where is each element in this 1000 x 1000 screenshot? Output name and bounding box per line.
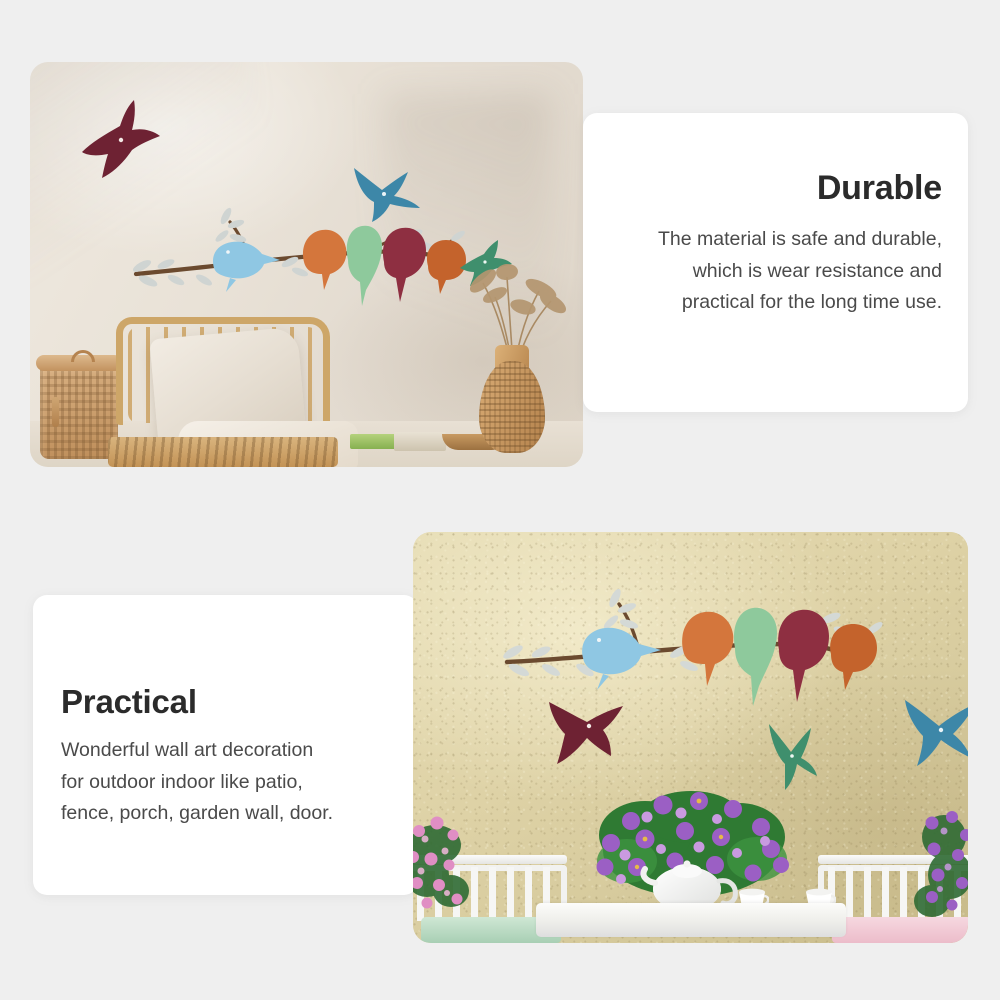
perched-birds-group [213, 226, 466, 306]
pink-flowers-left [413, 805, 513, 917]
chair-seat [108, 437, 338, 467]
feature-body-line: fence, porch, garden wall, door. [61, 798, 388, 830]
feature-body-line: practical for the long time use. [617, 287, 942, 319]
maroon-flying-bird-outdoor [543, 680, 653, 768]
wicker-basket [40, 363, 118, 459]
vase-body [479, 361, 545, 453]
maroon-flying-bird-indoor [66, 96, 196, 186]
garden-scene [413, 793, 968, 943]
feature-body-durable: The material is safe and durable, which … [617, 224, 942, 319]
feature-body-practical: Wonderful wall art decoration for outdoo… [61, 735, 388, 830]
mint-green-bird [347, 226, 382, 306]
purple-flowers-right [888, 801, 968, 919]
green-flying-bird-outdoor [759, 714, 833, 792]
orange-bird [682, 612, 733, 686]
rust-bird [830, 624, 877, 690]
basket-tassel [52, 397, 59, 427]
white-table [536, 903, 846, 937]
feature-body-line: for outdoor indoor like patio, [61, 767, 388, 799]
woven-vase [479, 345, 545, 453]
feature-body-line: The material is safe and durable, [617, 224, 942, 256]
pink-cushion [832, 917, 968, 943]
mint-green-bird [734, 608, 777, 706]
steel-blue-flying-bird-outdoor [899, 684, 968, 770]
feature-title-practical: Practical [61, 683, 388, 721]
feature-title-durable: Durable [617, 169, 942, 208]
light-blue-bird [213, 242, 280, 292]
rattan-chair [108, 317, 338, 467]
cream-book [394, 432, 446, 451]
maroon-bird [778, 610, 829, 702]
orange-bird [303, 230, 346, 290]
product-feature-collage: Durable The material is safe and durable… [0, 0, 1000, 1000]
feature-body-line: Wonderful wall art decoration [61, 735, 388, 767]
steel-blue-flying-bird-indoor [346, 158, 426, 228]
photo-indoor-scene[interactable] [30, 62, 583, 467]
maroon-bird [383, 228, 426, 302]
feature-card-durable[interactable]: Durable The material is safe and durable… [583, 113, 968, 412]
feature-card-practical[interactable]: Practical Wonderful wall art decoration … [33, 595, 418, 895]
photo-outdoor-scene[interactable] [413, 532, 968, 943]
feature-body-line: which is wear resistance and [617, 256, 942, 288]
